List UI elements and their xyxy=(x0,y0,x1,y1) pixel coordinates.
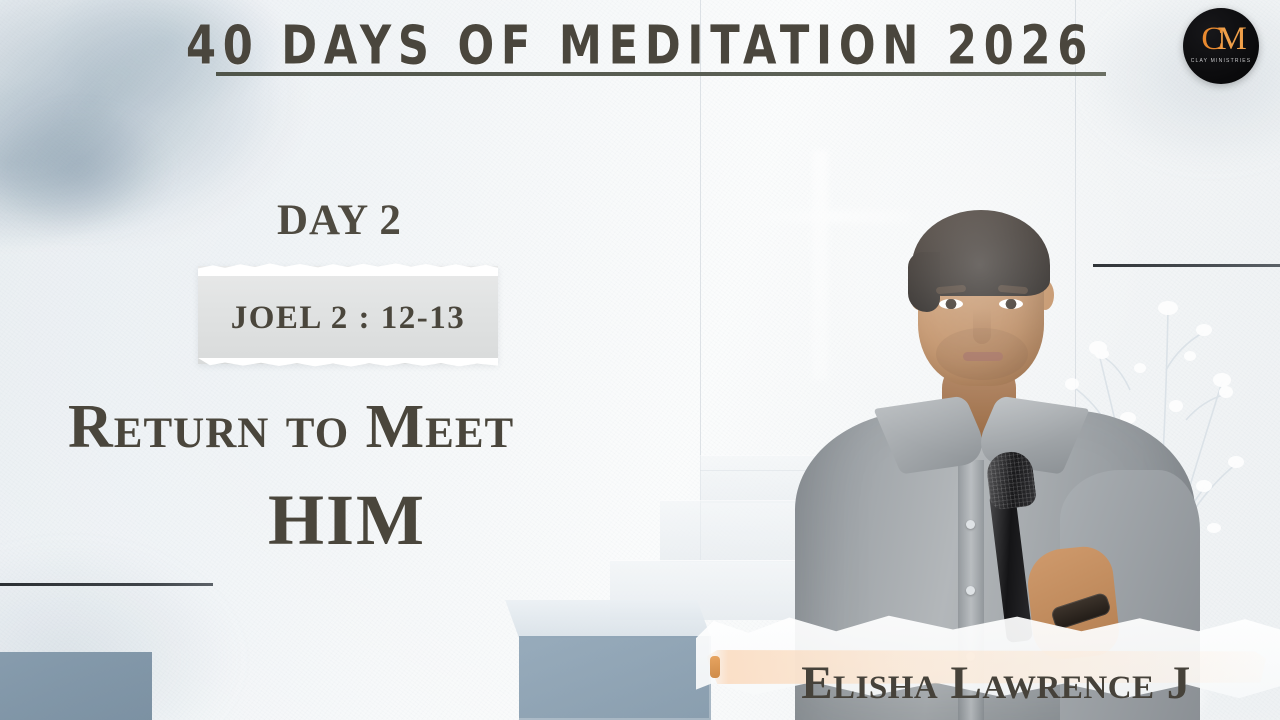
clay-ministries-logo[interactable]: CM CLAY MINISTRIES xyxy=(1183,8,1259,84)
sermon-title-line-1: Return to Meet xyxy=(68,396,514,458)
shirt-button xyxy=(966,586,975,595)
verse-reference: JOEL 2 : 12-13 xyxy=(198,258,498,372)
slide-canvas: 40 DAYS OF MEDITATION 2026 CM CLAY MINIS… xyxy=(0,0,1280,720)
speaker-eye-right xyxy=(999,299,1023,309)
series-title-underline xyxy=(216,72,1106,76)
speaker-nose xyxy=(973,308,991,344)
speaker-mouth xyxy=(963,352,1003,361)
speaker-hair xyxy=(912,210,1050,296)
logo-monogram-m: M xyxy=(1217,21,1240,57)
header: 40 DAYS OF MEDITATION 2026 CM CLAY MINIS… xyxy=(0,0,1280,92)
speaker-name-banner: Elisha Lawrence J xyxy=(666,604,1280,720)
decorative-rule-right xyxy=(1093,264,1280,267)
speaker-name: Elisha Lawrence J xyxy=(666,604,1280,720)
sermon-title-line-2: HIM xyxy=(268,484,426,556)
verse-reference-strip: JOEL 2 : 12-13 xyxy=(198,258,498,372)
series-title: 40 DAYS OF MEDITATION 2026 xyxy=(26,14,1255,77)
decorative-rule-left xyxy=(0,583,213,586)
shirt-button xyxy=(966,520,975,529)
logo-monogram-c: C xyxy=(1201,21,1217,57)
logo-monogram: CM xyxy=(1183,21,1259,58)
decorative-block-blue-left xyxy=(0,652,152,720)
speaker-eye-left xyxy=(939,299,963,309)
watercolor-smudge-secondary xyxy=(0,80,230,260)
logo-wordmark: CLAY MINISTRIES xyxy=(1183,58,1259,64)
day-label: DAY 2 xyxy=(277,196,402,245)
